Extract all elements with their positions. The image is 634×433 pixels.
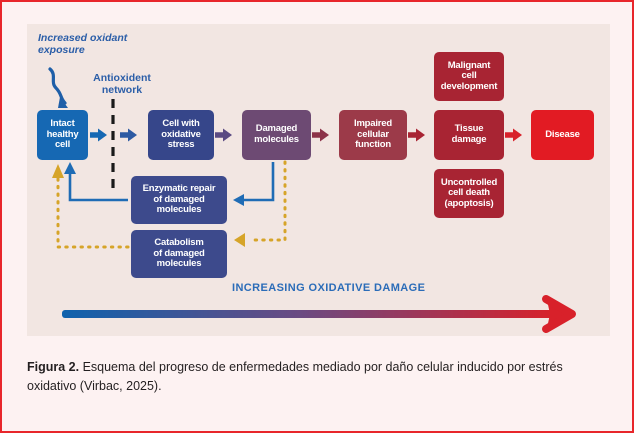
node-impaired-cellular-function[interactable]: Impaired cellular function bbox=[339, 110, 407, 160]
node-intact-healthy-cell-line3: cell bbox=[47, 140, 79, 151]
node-malignant-cell-development-line3: development bbox=[441, 82, 497, 93]
node-malignant-cell-development[interactable]: Malignant cell development bbox=[434, 52, 504, 101]
node-impaired-cellular-function-line3: function bbox=[354, 140, 392, 151]
node-intact-healthy-cell[interactable]: Intact healthy cell bbox=[37, 110, 88, 160]
label-antioxident-network-line1: Antioxident bbox=[93, 72, 151, 84]
node-tissue-damage-line2: damage bbox=[452, 135, 487, 146]
figure-caption-prefix: Figura 2. bbox=[27, 360, 79, 374]
node-cell-with-oxidative-stress[interactable]: Cell with oxidative stress bbox=[148, 110, 214, 160]
label-antioxident-network-line2: network bbox=[102, 84, 142, 96]
node-damaged-molecules[interactable]: Damaged molecules bbox=[242, 110, 311, 160]
figure-caption-text: Esquema del progreso de enfermedades med… bbox=[27, 360, 563, 393]
node-disease[interactable]: Disease bbox=[531, 110, 594, 160]
axis-label-increasing-oxidative-damage: INCREASING OXIDATIVE DAMAGE bbox=[232, 282, 425, 294]
node-enzymatic-repair[interactable]: Enzymatic repair of damaged molecules bbox=[131, 176, 227, 224]
label-increased-oxidant-exposure-line2: exposure bbox=[38, 44, 85, 56]
label-increased-oxidant-exposure-line1: Increased oxidant bbox=[38, 32, 127, 44]
node-disease-line1: Disease bbox=[545, 130, 580, 141]
node-damaged-molecules-line2: molecules bbox=[254, 135, 299, 146]
node-enzymatic-repair-line3: molecules bbox=[143, 205, 216, 216]
node-tissue-damage[interactable]: Tissue damage bbox=[434, 110, 504, 160]
node-uncontrolled-cell-death-line3: (apoptosis) bbox=[441, 199, 497, 210]
node-catabolism[interactable]: Catabolism of damaged molecules bbox=[131, 230, 227, 278]
node-catabolism-line3: molecules bbox=[153, 259, 204, 270]
label-antioxident-network: Antioxident network bbox=[86, 72, 158, 96]
figure-caption: Figura 2. Esquema del progreso de enferm… bbox=[27, 358, 587, 396]
node-cell-with-oxidative-stress-line3: stress bbox=[161, 140, 200, 151]
figure-page: Increased oxidant exposure Antioxident n… bbox=[0, 0, 634, 433]
node-uncontrolled-cell-death[interactable]: Uncontrolled cell death (apoptosis) bbox=[434, 169, 504, 218]
label-increased-oxidant-exposure: Increased oxidant exposure bbox=[38, 32, 148, 56]
